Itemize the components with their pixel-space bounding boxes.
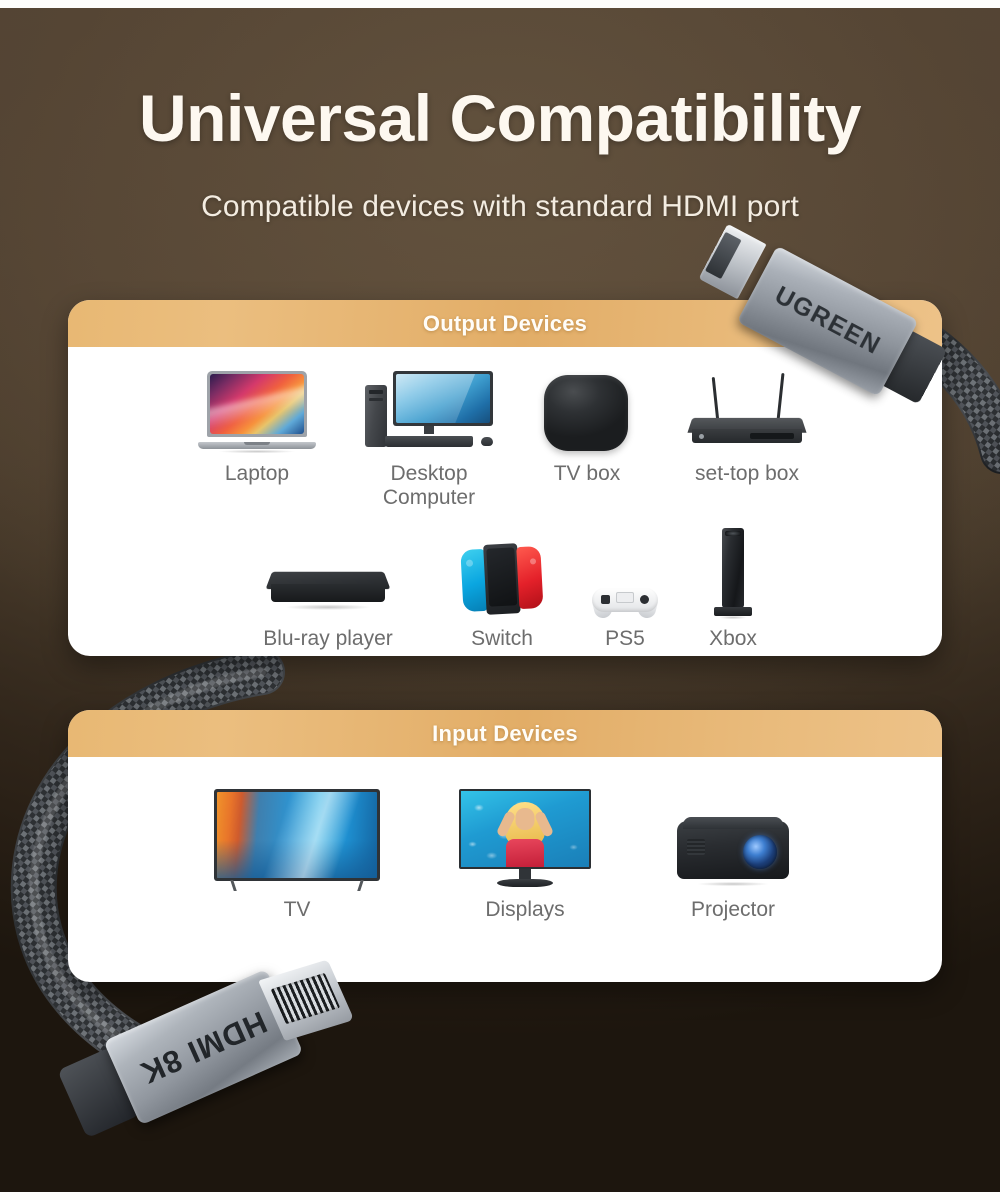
device-laptop[interactable]: Laptop xyxy=(193,363,321,486)
projector-icon xyxy=(673,783,793,891)
device-label: Laptop xyxy=(225,462,289,486)
input-devices-body: TV xyxy=(68,757,942,922)
device-desktop-computer[interactable]: Desktop Computer xyxy=(361,363,497,510)
device-projector[interactable]: Projector xyxy=(658,783,808,922)
input-devices-header-label: Input Devices xyxy=(432,721,578,747)
output-row-2: Blu-ray player Switch PS5 xyxy=(68,510,942,651)
nintendo-switch-icon xyxy=(458,524,546,620)
monitor-display-icon xyxy=(459,783,591,891)
device-label: set-top box xyxy=(695,462,799,486)
input-devices-header: Input Devices xyxy=(68,710,942,757)
ps5-controller-icon xyxy=(592,524,658,620)
device-tv[interactable]: TV xyxy=(202,783,392,922)
device-tv-box[interactable]: TV box xyxy=(537,363,637,486)
television-icon xyxy=(214,783,380,891)
laptop-icon xyxy=(198,363,316,455)
device-label: Xbox xyxy=(709,627,757,651)
input-devices-card: Input Devices TV xyxy=(68,710,942,982)
device-label: Switch xyxy=(471,627,533,651)
device-label: PS5 xyxy=(605,627,645,651)
device-label: TV xyxy=(284,898,311,922)
device-label: Desktop Computer xyxy=(383,462,475,510)
desktop-computer-icon xyxy=(365,363,493,455)
page-subtitle: Compatible devices with standard HDMI po… xyxy=(0,190,1000,224)
device-nintendo-switch[interactable]: Switch xyxy=(450,524,554,651)
blu-ray-player-icon xyxy=(263,524,393,620)
hdmi-standard-label: HDMI xyxy=(182,1004,272,1070)
device-label: Blu-ray player xyxy=(263,627,393,651)
hdmi-resolution-label: 8K xyxy=(135,1042,187,1091)
device-blu-ray-player[interactable]: Blu-ray player xyxy=(240,524,416,651)
output-devices-header-label: Output Devices xyxy=(423,311,587,337)
ugreen-brand-label: UGREEN xyxy=(750,271,905,372)
input-row-1: TV xyxy=(68,757,942,922)
connector-pins xyxy=(271,973,340,1024)
device-label: TV box xyxy=(554,462,621,486)
device-displays[interactable]: Displays xyxy=(450,783,600,922)
product-image-stage: Universal Compatibility Compatible devic… xyxy=(0,0,1000,1200)
page-title: Universal Compatibility xyxy=(0,84,1000,153)
device-label: Displays xyxy=(485,898,564,922)
device-ps5[interactable]: PS5 xyxy=(588,524,662,651)
device-xbox[interactable]: Xbox xyxy=(696,524,770,651)
xbox-series-x-icon xyxy=(711,524,755,620)
tv-box-icon xyxy=(544,363,630,455)
hdmi-8k-label: HDMI 8K xyxy=(115,995,292,1100)
device-label: Projector xyxy=(691,898,775,922)
